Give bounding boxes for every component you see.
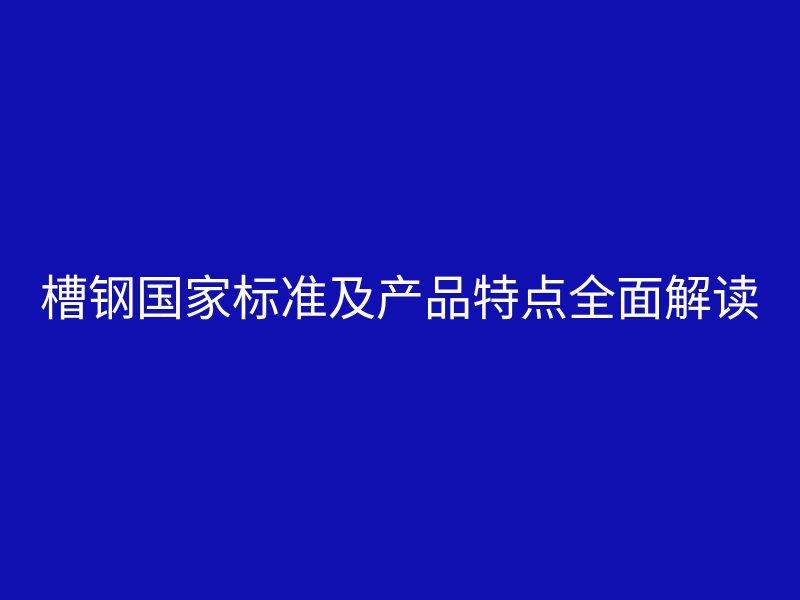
page-title: 槽钢国家标准及产品特点全面解读: [40, 275, 760, 323]
title-block: 槽钢国家标准及产品特点全面解读: [0, 0, 800, 600]
title-slide: 槽钢国家标准及产品特点全面解读: [0, 0, 800, 600]
